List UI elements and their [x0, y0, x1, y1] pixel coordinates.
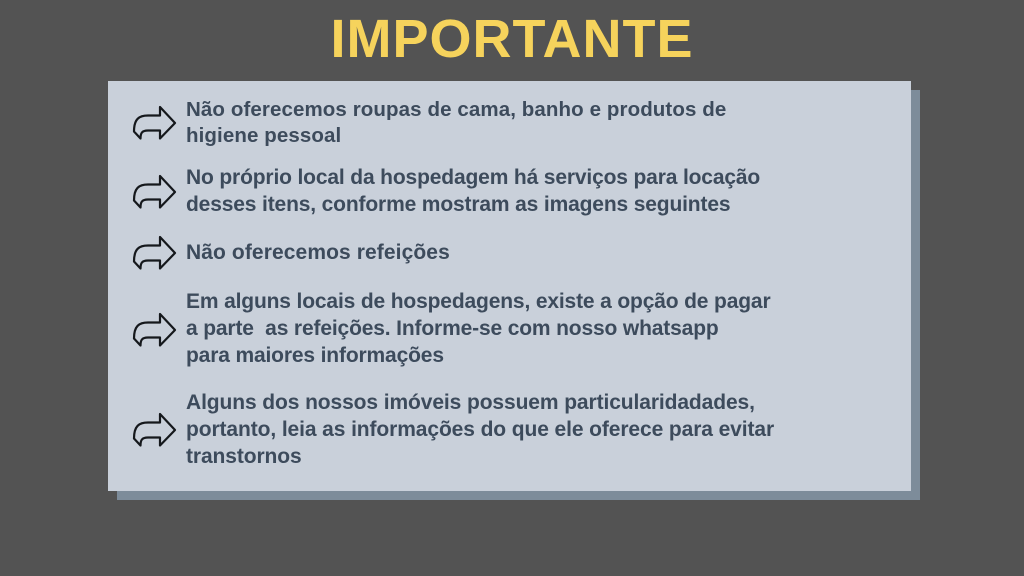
list-item-label: No próprio local da hospedagem há serviç… — [186, 165, 760, 219]
list-item-label: Em alguns locais de hospedagens, existe … — [186, 289, 770, 370]
curved-block-arrow-right-icon — [130, 103, 178, 143]
bullet-list: Não oferecemos roupas de cama, banho e p… — [130, 95, 893, 470]
curved-block-arrow-right-icon — [130, 233, 178, 273]
list-item: No próprio local da hospedagem há serviç… — [130, 165, 893, 219]
list-item: Alguns dos nossos imóveis possuem partic… — [130, 390, 893, 471]
list-item-label: Alguns dos nossos imóveis possuem partic… — [186, 390, 774, 471]
page-title: IMPORTANTE — [0, 8, 1024, 70]
content-panel: Não oferecemos roupas de cama, banho e p… — [108, 81, 911, 491]
list-item: Não oferecemos roupas de cama, banho e p… — [130, 97, 893, 149]
list-item: Em alguns locais de hospedagens, existe … — [130, 289, 893, 370]
list-item-label: Não oferecemos roupas de cama, banho e p… — [186, 97, 726, 149]
list-item-label: Não oferecemos refeições — [186, 240, 450, 267]
curved-block-arrow-right-icon — [130, 310, 178, 350]
slide-canvas: IMPORTANTE Não oferecemos roupas de cama… — [0, 0, 1024, 576]
list-item: Não oferecemos refeições — [130, 233, 893, 273]
curved-block-arrow-right-icon — [130, 172, 178, 212]
curved-block-arrow-right-icon — [130, 410, 178, 450]
